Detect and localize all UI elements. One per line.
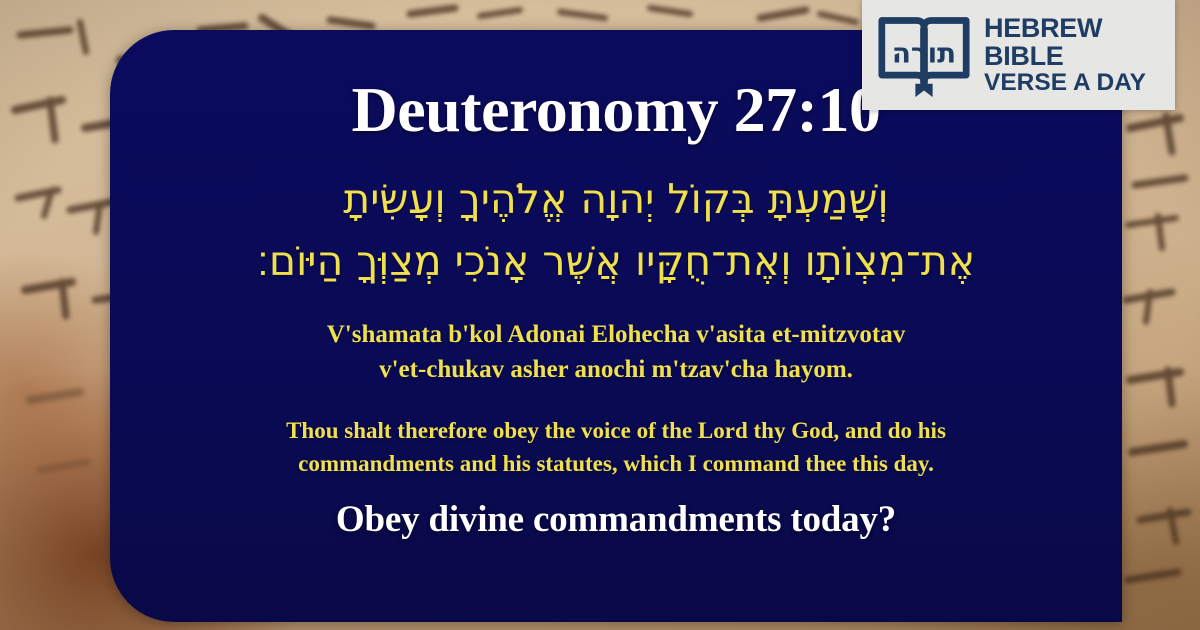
book-hebrew-word: תורה xyxy=(892,37,956,70)
transliteration: V'shamata b'kol Adonai Elohecha v'asita … xyxy=(327,317,906,388)
english-translation: Thou shalt therefore obey the voice of t… xyxy=(216,414,1016,481)
verse-card: Deuteronomy 27:10 וְשָׁמַעְתָּ בְּקוֹל י… xyxy=(110,30,1122,622)
brand-logo-text: HEBREW BIBLE VERSE A DAY xyxy=(984,15,1146,95)
transliteration-line-2: v'et-chukav asher anochi m'tzav'cha hayo… xyxy=(379,356,853,383)
brand-line-3: VERSE A DAY xyxy=(984,70,1146,95)
brand-line-1: HEBREW xyxy=(984,15,1146,43)
brand-line-2: BIBLE xyxy=(984,43,1146,71)
open-book-icon: תורה xyxy=(876,9,972,101)
hebrew-verse: וְשָׁמַעְתָּ בְּקוֹל יְהוָה אֱלֹהֶיךָ וְ… xyxy=(176,168,1056,293)
call-to-action-question: Obey divine commandments today? xyxy=(336,498,896,541)
page-title: Deuteronomy 27:10 xyxy=(352,78,881,142)
transliteration-line-1: V'shamata b'kol Adonai Elohecha v'asita … xyxy=(327,321,906,348)
hebrew-verse-line-1: וְשָׁמַעְתָּ בְּקוֹל יְהוָה אֱלֹהֶיךָ וְ… xyxy=(176,168,1056,230)
brand-logo-badge[interactable]: תורה HEBREW BIBLE VERSE A DAY xyxy=(862,0,1175,110)
hebrew-verse-line-2: אֶת־מִצְוֹתָו וְאֶת־חֻקָּיו אֲשֶׁר אָנֹכ… xyxy=(176,230,1056,292)
